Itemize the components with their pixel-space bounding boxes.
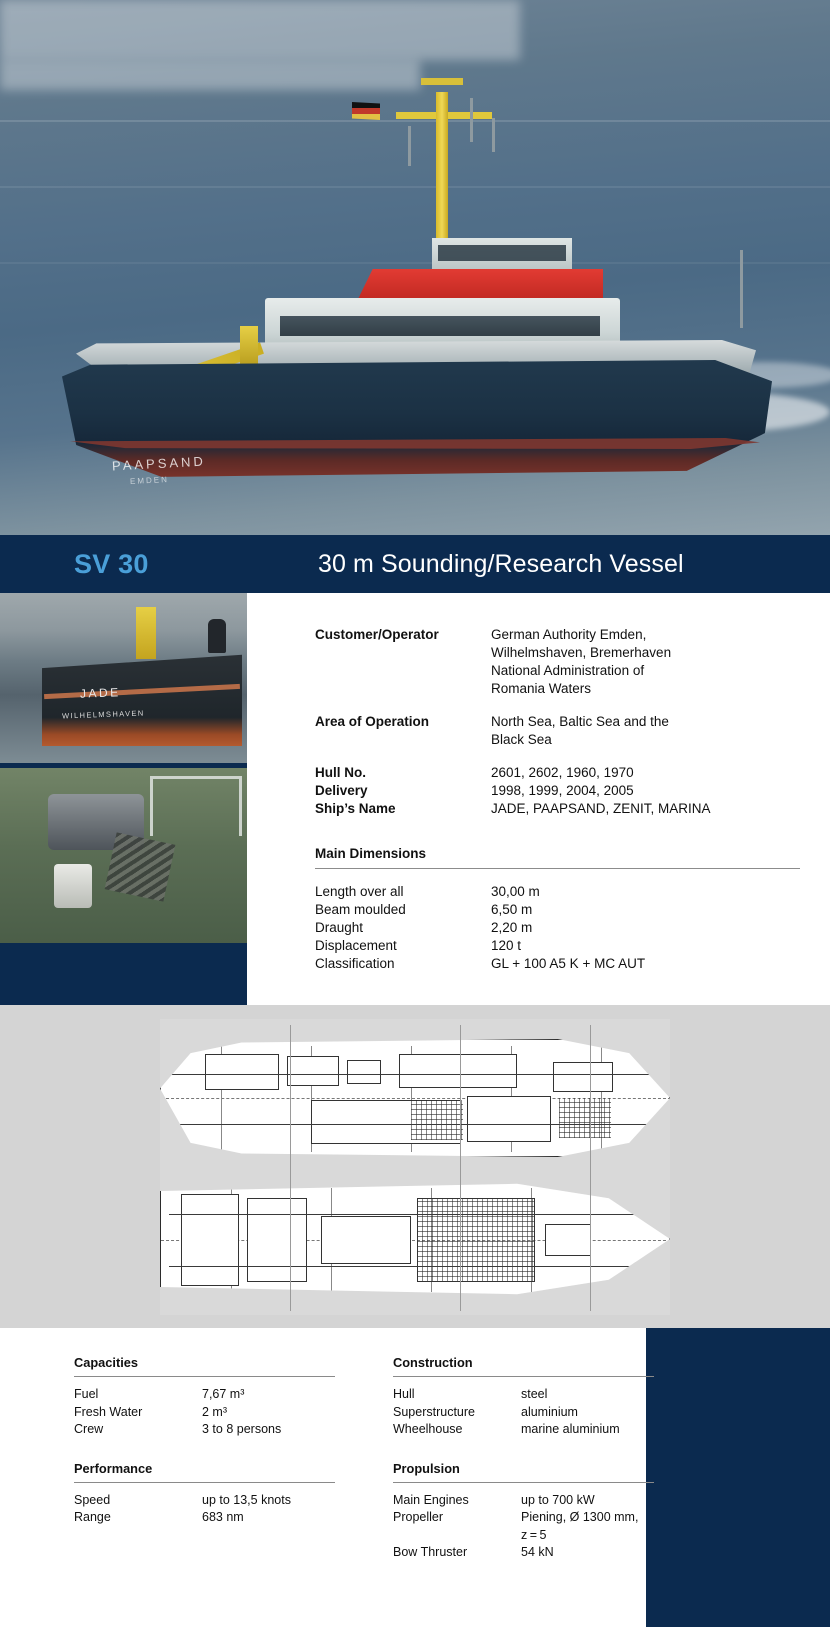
divider [74,1482,335,1483]
row-key: Superstructure [393,1404,521,1422]
thumbnail-photo-deck-equipment [0,768,247,943]
row-value: 7,67 m³ [202,1386,335,1404]
spec-value: German Authority Emden, Wilhelmshaven, B… [491,626,800,698]
footer-column-right: Construction Hull steel Superstructure a… [393,1355,654,1562]
photo-column: JADE WILHELMSHAVEN [0,593,247,1005]
dimension-value: GL + 100 A5 K + MC AUT [491,955,800,973]
dimension-value: 120 t [491,937,800,955]
dimension-row-loa: Length over all 30,00 m [315,883,800,901]
dimension-row-classification: Classification GL + 100 A5 K + MC AUT [315,955,800,973]
divider [393,1482,654,1483]
dimension-key: Draught [315,919,491,937]
title-band: SV 30 30 m Sounding/Research Vessel [0,535,830,593]
spec-key: Delivery [315,782,491,800]
row-key: Fuel [74,1386,202,1404]
spec-key: Ship’s Name [315,800,491,818]
mast [436,92,448,242]
row-value: up to 700 kW [521,1492,654,1510]
performance-row-range: Range 683 nm [74,1509,335,1527]
row-value: 3 to 8 persons [202,1421,335,1439]
row-value: 2 m³ [202,1404,335,1422]
spec-value: North Sea, Baltic Sea and the Black Sea [491,713,800,749]
specification-panel: Customer/Operator German Authority Emden… [247,593,830,1005]
model-code: SV 30 [0,549,318,580]
footer-accent-block [646,1328,830,1627]
row-value: Piening, Ø 1300 mm, z = 5 [521,1509,654,1544]
construction-heading: Construction [393,1355,654,1370]
row-value: 54 kN [521,1544,654,1562]
dimension-value: 2,20 m [491,919,800,937]
divider [315,868,800,869]
dimension-row-displacement: Displacement 120 t [315,937,800,955]
dimension-key: Beam moulded [315,901,491,919]
row-value: steel [521,1386,654,1404]
spec-row-area: Area of Operation North Sea, Baltic Sea … [315,713,800,749]
thumbnail-photo-jade: JADE WILHELMSHAVEN [0,593,247,763]
flag-icon [352,102,380,120]
spec-key: Customer/Operator [315,626,491,698]
row-key: Hull [393,1386,521,1404]
red-roof [358,269,603,299]
row-key: Propeller [393,1509,521,1544]
hero-ship-port: EMDEN [130,475,169,486]
performance-heading: Performance [74,1461,335,1476]
propulsion-heading: Propulsion [393,1461,654,1476]
plan-view-tank-top [160,1179,670,1299]
spec-value: 2601, 2602, 1960, 1970 [491,764,800,782]
dimension-value: 6,50 m [491,901,800,919]
spec-row-delivery: Delivery 1998, 1999, 2004, 2005 [315,782,800,800]
spec-value: JADE, PAAPSAND, ZENIT, MARINA [491,800,800,818]
dimension-key: Length over all [315,883,491,901]
thumb-ship-name: JADE [80,685,121,700]
dimension-value: 30,00 m [491,883,800,901]
datasheet-page: PAAPSAND EMDEN SV 30 30 m Sounding/Resea… [0,0,830,1627]
row-value: 683 nm [202,1509,335,1527]
vessel-illustration: PAAPSAND EMDEN [40,40,800,500]
plan-view-main-deck [160,1039,670,1157]
row-value: aluminium [521,1404,654,1422]
propulsion-row-propeller: Propeller Piening, Ø 1300 mm, z = 5 [393,1509,654,1544]
row-key: Wheelhouse [393,1421,521,1439]
spec-row-customer: Customer/Operator German Authority Emden… [315,626,800,698]
row-value: up to 13,5 knots [202,1492,335,1510]
dimension-key: Displacement [315,937,491,955]
footer-section: Capacities Fuel 7,67 m³ Fresh Water 2 m³… [0,1328,830,1627]
performance-row-speed: Speed up to 13,5 knots [74,1492,335,1510]
propulsion-row-main-engines: Main Engines up to 700 kW [393,1492,654,1510]
propulsion-row-bow-thruster: Bow Thruster 54 kN [393,1544,654,1562]
construction-row-wheelhouse: Wheelhouse marine aluminium [393,1421,654,1439]
capacities-row-fresh-water: Fresh Water 2 m³ [74,1404,335,1422]
spec-key: Area of Operation [315,713,491,749]
row-key: Bow Thruster [393,1544,521,1562]
page-title: 30 m Sounding/Research Vessel [318,550,684,579]
middle-section: JADE WILHELMSHAVEN Customer/Operator Ger… [0,593,830,1005]
row-value: marine aluminium [521,1421,654,1439]
spec-key: Hull No. [315,764,491,782]
spec-value: 1998, 1999, 2004, 2005 [491,782,800,800]
main-dimensions-heading: Main Dimensions [315,846,800,861]
row-key: Fresh Water [74,1404,202,1422]
row-key: Crew [74,1421,202,1439]
spec-row-ship-name: Ship’s Name JADE, PAAPSAND, ZENIT, MARIN… [315,800,800,818]
row-key: Range [74,1509,202,1527]
capacities-row-fuel: Fuel 7,67 m³ [74,1386,335,1404]
general-arrangement-panel [0,1005,830,1328]
divider [393,1376,654,1377]
footer-column-left: Capacities Fuel 7,67 m³ Fresh Water 2 m³… [74,1355,335,1562]
row-key: Speed [74,1492,202,1510]
dimension-row-draught: Draught 2,20 m [315,919,800,937]
spec-row-hull-no: Hull No. 2601, 2602, 1960, 1970 [315,764,800,782]
dimension-key: Classification [315,955,491,973]
hero-photo: PAAPSAND EMDEN [0,0,830,535]
drawing-canvas [160,1019,670,1315]
capacities-heading: Capacities [74,1355,335,1370]
construction-row-hull: Hull steel [393,1386,654,1404]
dimension-row-beam: Beam moulded 6,50 m [315,901,800,919]
row-key: Main Engines [393,1492,521,1510]
divider [74,1376,335,1377]
capacities-row-crew: Crew 3 to 8 persons [74,1421,335,1439]
construction-row-superstructure: Superstructure aluminium [393,1404,654,1422]
